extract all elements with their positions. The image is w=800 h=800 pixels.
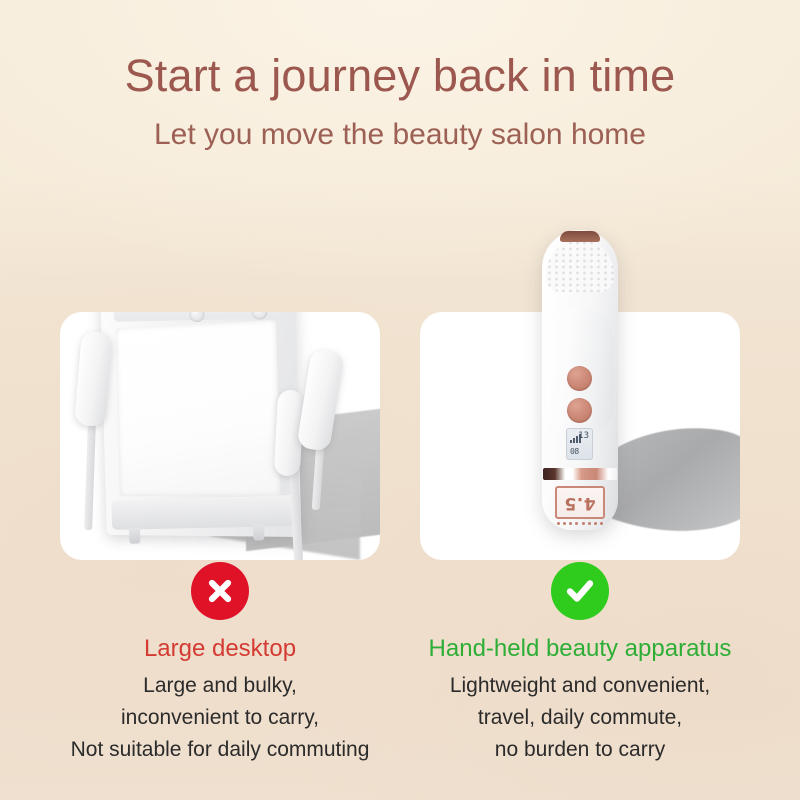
poster-header: Start a journey back in time Let you mov… — [0, 52, 800, 151]
left-caption-line: Large and bulky, — [40, 670, 400, 702]
device-cartridge-dots — [557, 522, 603, 525]
cross-icon — [203, 574, 237, 608]
comparison-columns: Large desktop Large and bulky, inconveni… — [0, 312, 800, 560]
left-caption-line: Not suitable for daily commuting — [40, 734, 400, 766]
poster-headline: Start a journey back in time — [0, 52, 800, 99]
right-caption-line: no burden to carry — [400, 734, 760, 766]
machine-base — [111, 495, 296, 530]
left-caption-title: Large desktop — [40, 634, 400, 664]
lcd-secondary-value: 08 — [570, 447, 579, 456]
comparison-column-left: Large desktop Large and bulky, inconveni… — [60, 312, 380, 560]
cartridge-depth-value: 4.5 — [564, 493, 596, 513]
product-comparison-poster: Start a journey back in time Let you mov… — [0, 0, 800, 800]
machine-touchscreen — [115, 320, 280, 496]
right-caption-line: travel, daily commute, — [400, 702, 760, 734]
device-cartridge: 4.5 — [555, 486, 605, 519]
poster-subheadline: Let you move the beauty salon home — [0, 118, 800, 151]
desktop-machine-photo-card — [60, 312, 380, 560]
device-top-cap — [560, 231, 600, 242]
left-caption-lines: Large and bulky, inconvenient to carry, … — [40, 670, 400, 766]
right-caption-lines: Lightweight and convenient, travel, dail… — [400, 670, 760, 766]
device-mode-button[interactable] — [567, 398, 592, 423]
right-caption-title: Hand-held beauty apparatus — [400, 634, 760, 664]
comparison-column-right: 13 08 4.5 Hand-held beauty apparatus — [420, 312, 740, 560]
cross-badge — [191, 562, 249, 620]
machine-foot — [129, 528, 140, 544]
device-accent-band — [543, 468, 617, 480]
handheld-beauty-device: 13 08 4.5 — [542, 230, 618, 530]
device-power-button[interactable] — [567, 366, 592, 391]
right-caption-line: Lightweight and convenient, — [400, 670, 760, 702]
left-caption: Large desktop Large and bulky, inconveni… — [40, 634, 400, 766]
check-badge — [551, 562, 609, 620]
machine-foot — [253, 524, 264, 540]
check-icon — [562, 573, 598, 609]
left-caption-line: inconvenient to carry, — [40, 702, 400, 734]
desktop-machine-body — [97, 312, 299, 539]
right-caption: Hand-held beauty apparatus Lightweight a… — [400, 634, 760, 766]
device-lcd-screen: 13 08 — [566, 428, 593, 460]
lcd-level-value: 13 — [578, 432, 589, 441]
machine-probe-cable — [84, 422, 96, 530]
desktop-machine-illustration — [60, 312, 380, 560]
